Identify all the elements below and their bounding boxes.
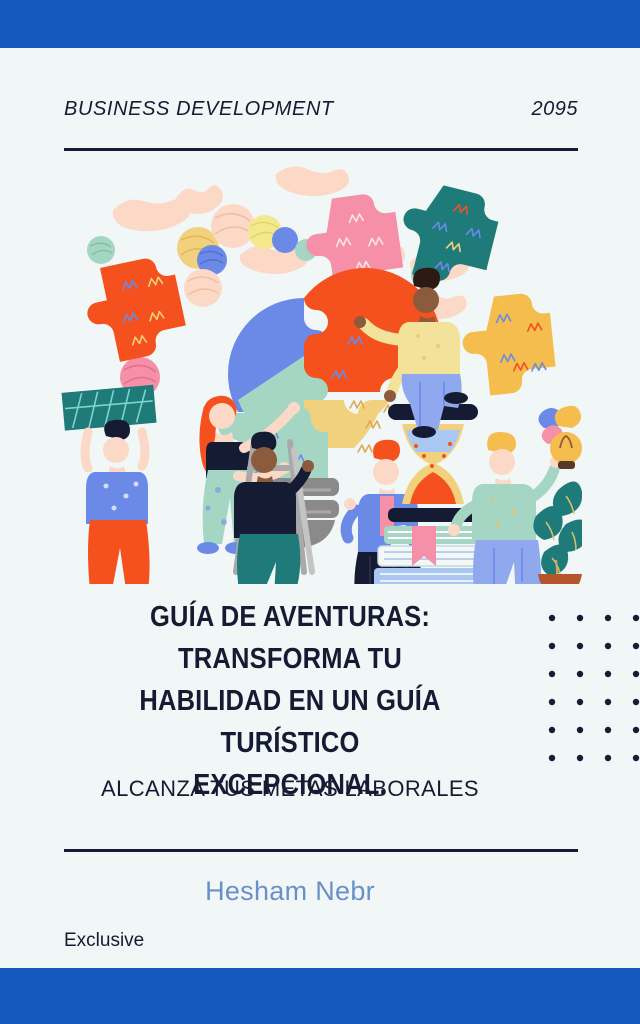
exclusive-badge: Exclusive bbox=[64, 930, 144, 952]
cover-illustration bbox=[58, 160, 582, 584]
header-divider bbox=[64, 148, 578, 151]
person-board-holder bbox=[62, 385, 157, 584]
title-line-1: GUÍA DE AVENTURAS: TRANSFORMA TU bbox=[70, 596, 510, 680]
book-title: GUÍA DE AVENTURAS: TRANSFORMA TU HABILID… bbox=[40, 596, 540, 806]
dot-grid-decoration bbox=[548, 606, 640, 766]
footer-divider bbox=[64, 849, 578, 852]
top-accent-bar bbox=[0, 0, 640, 48]
author-name: Hesham Nebr bbox=[40, 876, 540, 907]
held-lightbulb bbox=[538, 406, 582, 469]
puzzle-piece-teal bbox=[391, 178, 504, 292]
puzzle-piece-amber bbox=[458, 291, 558, 398]
puzzle-piece-orange bbox=[78, 253, 190, 366]
title-line-2: HABILIDAD EN UN GUÍA TURÍSTICO bbox=[70, 680, 510, 764]
header-row: BUSINESS DEVELOPMENT 2095 bbox=[64, 98, 578, 121]
category-kicker: BUSINESS DEVELOPMENT bbox=[64, 98, 334, 121]
book-cover: BUSINESS DEVELOPMENT 2095 bbox=[0, 0, 640, 1024]
bottom-accent-bar bbox=[0, 968, 640, 1024]
book-subtitle: ALCANZA TUS METAS LABORALES bbox=[40, 776, 540, 802]
year-label: 2095 bbox=[532, 98, 579, 121]
